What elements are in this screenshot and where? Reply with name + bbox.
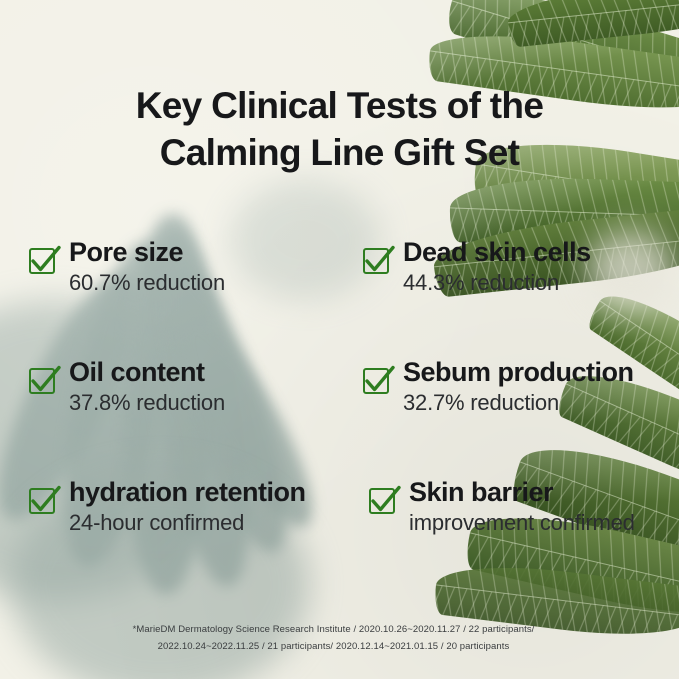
result-label: Oil content	[69, 358, 225, 387]
result-item-hydration-retention: hydration retention 24-hour confirmed	[28, 478, 306, 537]
checkbox-checked-icon	[28, 245, 58, 275]
result-label: Skin barrier	[409, 478, 635, 507]
footnote: *MarieDM Dermatology Science Research In…	[0, 622, 667, 655]
page-title: Key Clinical Tests of the Calming Line G…	[0, 82, 679, 177]
result-label: Sebum production	[403, 358, 634, 387]
clinical-test-poster: Key Clinical Tests of the Calming Line G…	[0, 0, 679, 679]
results-row: hydration retention 24-hour confirmed Sk…	[0, 478, 679, 598]
poster-content: Key Clinical Tests of the Calming Line G…	[0, 0, 679, 679]
result-detail: 24-hour confirmed	[69, 510, 306, 537]
results-row: Pore size 60.7% reduction Dead skin cell…	[0, 238, 679, 358]
result-detail: 44.3% reduction	[403, 270, 591, 297]
checkbox-checked-icon	[362, 365, 392, 395]
footnote-line1: *MarieDM Dermatology Science Research In…	[0, 622, 667, 638]
result-detail: 60.7% reduction	[69, 270, 225, 297]
checkbox-checked-icon	[368, 485, 398, 515]
result-detail: 37.8% reduction	[69, 390, 225, 417]
result-label: Pore size	[69, 238, 225, 267]
checkbox-checked-icon	[28, 365, 58, 395]
result-item-skin-barrier: Skin barrier improvement confirmed	[368, 478, 635, 537]
result-label: Dead skin cells	[403, 238, 591, 267]
result-item-pore-size: Pore size 60.7% reduction	[28, 238, 225, 297]
footnote-line2: 2022.10.24~2022.11.25 / 21 participants/…	[0, 639, 667, 655]
result-detail: 32.7% reduction	[403, 390, 634, 417]
checkbox-checked-icon	[362, 245, 392, 275]
results-row: Oil content 37.8% reduction Sebum produc…	[0, 358, 679, 478]
checkbox-checked-icon	[28, 485, 58, 515]
page-title-line2: Calming Line Gift Set	[0, 129, 679, 176]
results-grid: Pore size 60.7% reduction Dead skin cell…	[0, 238, 679, 598]
result-label: hydration retention	[69, 478, 306, 507]
result-item-dead-skin-cells: Dead skin cells 44.3% reduction	[362, 238, 591, 297]
result-item-sebum-production: Sebum production 32.7% reduction	[362, 358, 634, 417]
result-item-oil-content: Oil content 37.8% reduction	[28, 358, 225, 417]
page-title-line1: Key Clinical Tests of the	[136, 85, 543, 126]
result-detail: improvement confirmed	[409, 510, 635, 537]
